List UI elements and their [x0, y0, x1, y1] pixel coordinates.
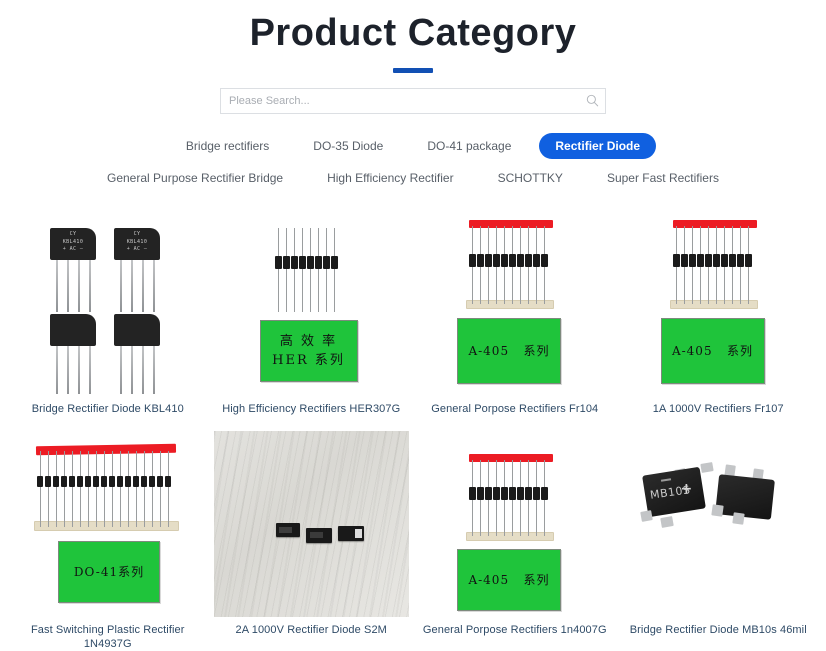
diode-body	[331, 256, 338, 269]
diode-body	[485, 254, 492, 267]
diode-lead	[112, 451, 113, 527]
diode-body	[291, 256, 298, 269]
smd-marking	[279, 527, 292, 533]
mb10s-lead	[711, 504, 723, 516]
kbl-lead	[120, 260, 122, 312]
diode-lead	[168, 451, 169, 527]
diode-lead	[326, 228, 327, 312]
diode-body	[737, 254, 744, 267]
diode-body	[117, 476, 123, 487]
kbl-package-marking: CYKBL410+ AC –	[114, 231, 160, 253]
product-image-fr107[interactable]: A-405 系列	[617, 208, 821, 396]
tab-do-41-package[interactable]: DO-41 package	[411, 133, 527, 159]
green-product-label: DO-41系列	[58, 541, 160, 603]
product-grid: CYKBL410+ AC – CYKBL410+ AC –	[0, 208, 826, 651]
kbl-lead	[142, 346, 144, 394]
title-underline-accent	[393, 68, 433, 73]
mb10s-lead	[640, 510, 653, 522]
diode-lead	[48, 451, 49, 527]
diode-body	[477, 487, 484, 500]
diode-body	[283, 256, 290, 269]
diode-body	[141, 476, 147, 487]
diode-body	[307, 256, 314, 269]
green-product-label: A-405 系列	[457, 318, 561, 384]
diode-body	[37, 476, 43, 487]
search-input[interactable]	[221, 89, 579, 113]
diode-body	[745, 254, 752, 267]
kbl-package	[114, 314, 160, 346]
diode-body	[673, 254, 680, 267]
product-card[interactable]: + MB10S Bridge Rectifier Diode MB10s 46m…	[617, 429, 821, 651]
search-icon[interactable]	[579, 89, 605, 113]
green-label-text: A-405 系列	[468, 571, 549, 589]
diode-lead	[294, 228, 295, 312]
label-line-1: 高 效 率	[280, 334, 337, 349]
diode-body	[323, 256, 330, 269]
diode-lead	[56, 451, 57, 527]
mb10s-lead	[732, 512, 744, 524]
kbl-lead	[78, 260, 80, 312]
diode-body	[469, 254, 476, 267]
tab-bridge-rectifiers[interactable]: Bridge rectifiers	[170, 133, 285, 159]
product-image-kbl410[interactable]: CYKBL410+ AC – CYKBL410+ AC –	[6, 208, 210, 396]
diode-lead	[64, 451, 65, 527]
kbl-lead	[67, 346, 69, 394]
smd-diode	[276, 523, 300, 537]
smd-marking	[310, 532, 323, 538]
diode-lead	[40, 451, 41, 527]
red-tape	[469, 454, 553, 462]
product-caption: Bridge Rectifier Diode KBL410	[6, 402, 210, 416]
kbl-lead	[78, 346, 80, 394]
tab-schottky[interactable]: SCHOTTKY	[482, 165, 579, 191]
kbl-lead	[56, 260, 58, 312]
diode-body	[493, 254, 500, 267]
diode-body	[533, 487, 540, 500]
kbl-lead	[120, 346, 122, 394]
product-card[interactable]: A-405 系列 1A 1000V Rectifiers Fr107	[617, 208, 821, 416]
product-caption: Fast Switching Plastic Rectifier 1N4937G	[6, 623, 210, 651]
diode-body	[69, 476, 75, 487]
kbl-lead	[142, 260, 144, 312]
red-tape	[673, 220, 757, 228]
kbl-lead	[67, 260, 69, 312]
diode-body	[705, 254, 712, 267]
a405-artwork: A-405 系列	[413, 208, 617, 396]
diode-body	[101, 476, 107, 487]
product-image-1n4007g[interactable]: A-405 系列	[413, 429, 617, 617]
green-product-label: 高 效 率 HER 系列	[260, 320, 358, 382]
label-line-2: HER 系列	[272, 353, 345, 368]
diode-body	[469, 487, 476, 500]
tab-general-purpose-rectifier-bridge[interactable]: General Purpose Rectifier Bridge	[91, 165, 299, 191]
diode-lead	[144, 451, 145, 527]
green-label-text: DO-41系列	[74, 563, 144, 581]
diode-body	[689, 254, 696, 267]
diode-lead	[128, 451, 129, 527]
do41-artwork: DO-41系列	[6, 429, 210, 617]
product-image-s2m[interactable]	[210, 429, 414, 617]
diode-body	[681, 254, 688, 267]
diode-body	[541, 254, 548, 267]
product-caption: 2A 1000V Rectifier Diode S2M	[210, 623, 414, 637]
diode-lead	[278, 228, 279, 312]
a405-artwork: A-405 系列	[617, 208, 821, 396]
diode-lead	[152, 451, 153, 527]
product-card[interactable]: DO-41系列 Fast Switching Plastic Rectifier…	[6, 429, 210, 651]
tab-rectifier-diode[interactable]: Rectifier Diode	[539, 133, 656, 159]
her-artwork: 高 效 率 HER 系列	[210, 208, 414, 396]
diode-body	[85, 476, 91, 487]
green-label-text: A-405 系列	[468, 342, 549, 360]
diode-lead	[334, 228, 335, 312]
diode-body	[275, 256, 282, 269]
diode-body	[125, 476, 131, 487]
product-caption: General Porpose Rectifiers 1n4007G	[413, 623, 617, 637]
search-box[interactable]	[220, 88, 606, 114]
product-card[interactable]: A-405 系列 General Porpose Rectifiers 1n40…	[413, 429, 617, 651]
kbl-lead	[131, 346, 133, 394]
mb10s-package	[715, 474, 775, 520]
diode-body	[109, 476, 115, 487]
diode-body	[525, 254, 532, 267]
product-card[interactable]: A-405 系列 General Porpose Rectifiers Fr10…	[413, 208, 617, 416]
tab-super-fast-rectifiers[interactable]: Super Fast Rectifiers	[591, 165, 735, 191]
mb10s-artwork: + MB10S	[617, 429, 821, 617]
diode-body	[729, 254, 736, 267]
diode-body	[713, 254, 720, 267]
diode-body	[149, 476, 155, 487]
diode-body	[45, 476, 51, 487]
kbl-lead	[89, 346, 91, 394]
tab-high-efficiency-rectifier[interactable]: High Efficiency Rectifier	[311, 165, 470, 191]
diode-body	[157, 476, 163, 487]
product-caption: Bridge Rectifier Diode MB10s 46mil	[617, 623, 821, 637]
product-caption: General Porpose Rectifiers Fr104	[413, 402, 617, 416]
diode-body	[541, 487, 548, 500]
diode-lead	[310, 228, 311, 312]
page-title: Product Category	[0, 0, 826, 58]
kbl-lead	[89, 260, 91, 312]
diode-body	[509, 254, 516, 267]
diode-body	[477, 254, 484, 267]
smd-diode	[306, 528, 332, 543]
mb10s-lead	[700, 462, 713, 473]
tab-do-35-diode[interactable]: DO-35 Diode	[297, 133, 399, 159]
kbl-package: CYKBL410+ AC –	[50, 228, 96, 260]
diode-body	[61, 476, 67, 487]
product-image-mb10s[interactable]: + MB10S	[617, 429, 821, 617]
diode-body	[525, 487, 532, 500]
diode-body	[485, 487, 492, 500]
red-tape	[469, 220, 553, 228]
diode-body	[493, 487, 500, 500]
diode-lead	[302, 228, 303, 312]
diode-body	[165, 476, 171, 487]
product-caption: High Efficiency Rectifiers HER307G	[210, 402, 414, 416]
green-product-label: A-405 系列	[661, 318, 765, 384]
s2m-photo	[214, 431, 410, 617]
diode-body	[299, 256, 306, 269]
green-product-label: A-405 系列	[457, 549, 561, 611]
diode-body	[517, 487, 524, 500]
smd-diode	[338, 526, 364, 541]
diode-lead	[136, 451, 137, 527]
diode-lead	[96, 451, 97, 527]
kbl-package	[50, 314, 96, 346]
diode-body	[93, 476, 99, 487]
diode-lead	[80, 451, 81, 527]
diode-lead	[120, 451, 121, 527]
diode-lead	[104, 451, 105, 527]
diode-body	[533, 254, 540, 267]
diode-lead	[286, 228, 287, 312]
kbl-lead	[56, 346, 58, 394]
product-card[interactable]: CYKBL410+ AC – CYKBL410+ AC –	[6, 208, 210, 416]
product-image-fr104[interactable]: A-405 系列	[413, 208, 617, 396]
diode-body	[721, 254, 728, 267]
product-card[interactable]: 高 效 率 HER 系列 High Efficiency Rectifiers …	[210, 208, 414, 416]
diode-body	[517, 254, 524, 267]
diode-body	[509, 487, 516, 500]
diode-body	[77, 476, 83, 487]
search-bar	[220, 88, 606, 114]
product-image-1n4937g[interactable]: DO-41系列	[6, 429, 210, 617]
green-label-text: 高 效 率 HER 系列	[272, 332, 345, 371]
diode-lead	[72, 451, 73, 527]
product-caption: 1A 1000V Rectifiers Fr107	[617, 402, 821, 416]
kbl-lead	[131, 260, 133, 312]
kbl410-artwork: CYKBL410+ AC – CYKBL410+ AC –	[6, 208, 210, 396]
diode-body	[53, 476, 59, 487]
kbl-lead	[153, 260, 155, 312]
mb10s-lead	[660, 516, 674, 528]
diode-lead	[318, 228, 319, 312]
diode-body	[697, 254, 704, 267]
diode-body	[501, 254, 508, 267]
a405-artwork: A-405 系列	[413, 429, 617, 617]
kbl-package: CYKBL410+ AC –	[114, 228, 160, 260]
kbl-lead	[153, 346, 155, 394]
smd-cathode-band	[355, 529, 362, 538]
kbl-package-marking: CYKBL410+ AC –	[50, 231, 96, 253]
category-filter-tabs: Bridge rectifiers DO-35 Diode DO-41 pack…	[0, 130, 826, 195]
diode-body	[501, 487, 508, 500]
product-category-page: Product Category Bridge rectifiers DO-35…	[0, 0, 826, 651]
product-card[interactable]: 2A 1000V Rectifier Diode S2M	[210, 429, 414, 651]
diode-body	[315, 256, 322, 269]
green-label-text: A-405 系列	[672, 342, 753, 360]
product-image-her307g[interactable]: 高 效 率 HER 系列	[210, 208, 414, 396]
diode-lead	[160, 451, 161, 527]
diode-body	[133, 476, 139, 487]
diode-lead	[88, 451, 89, 527]
